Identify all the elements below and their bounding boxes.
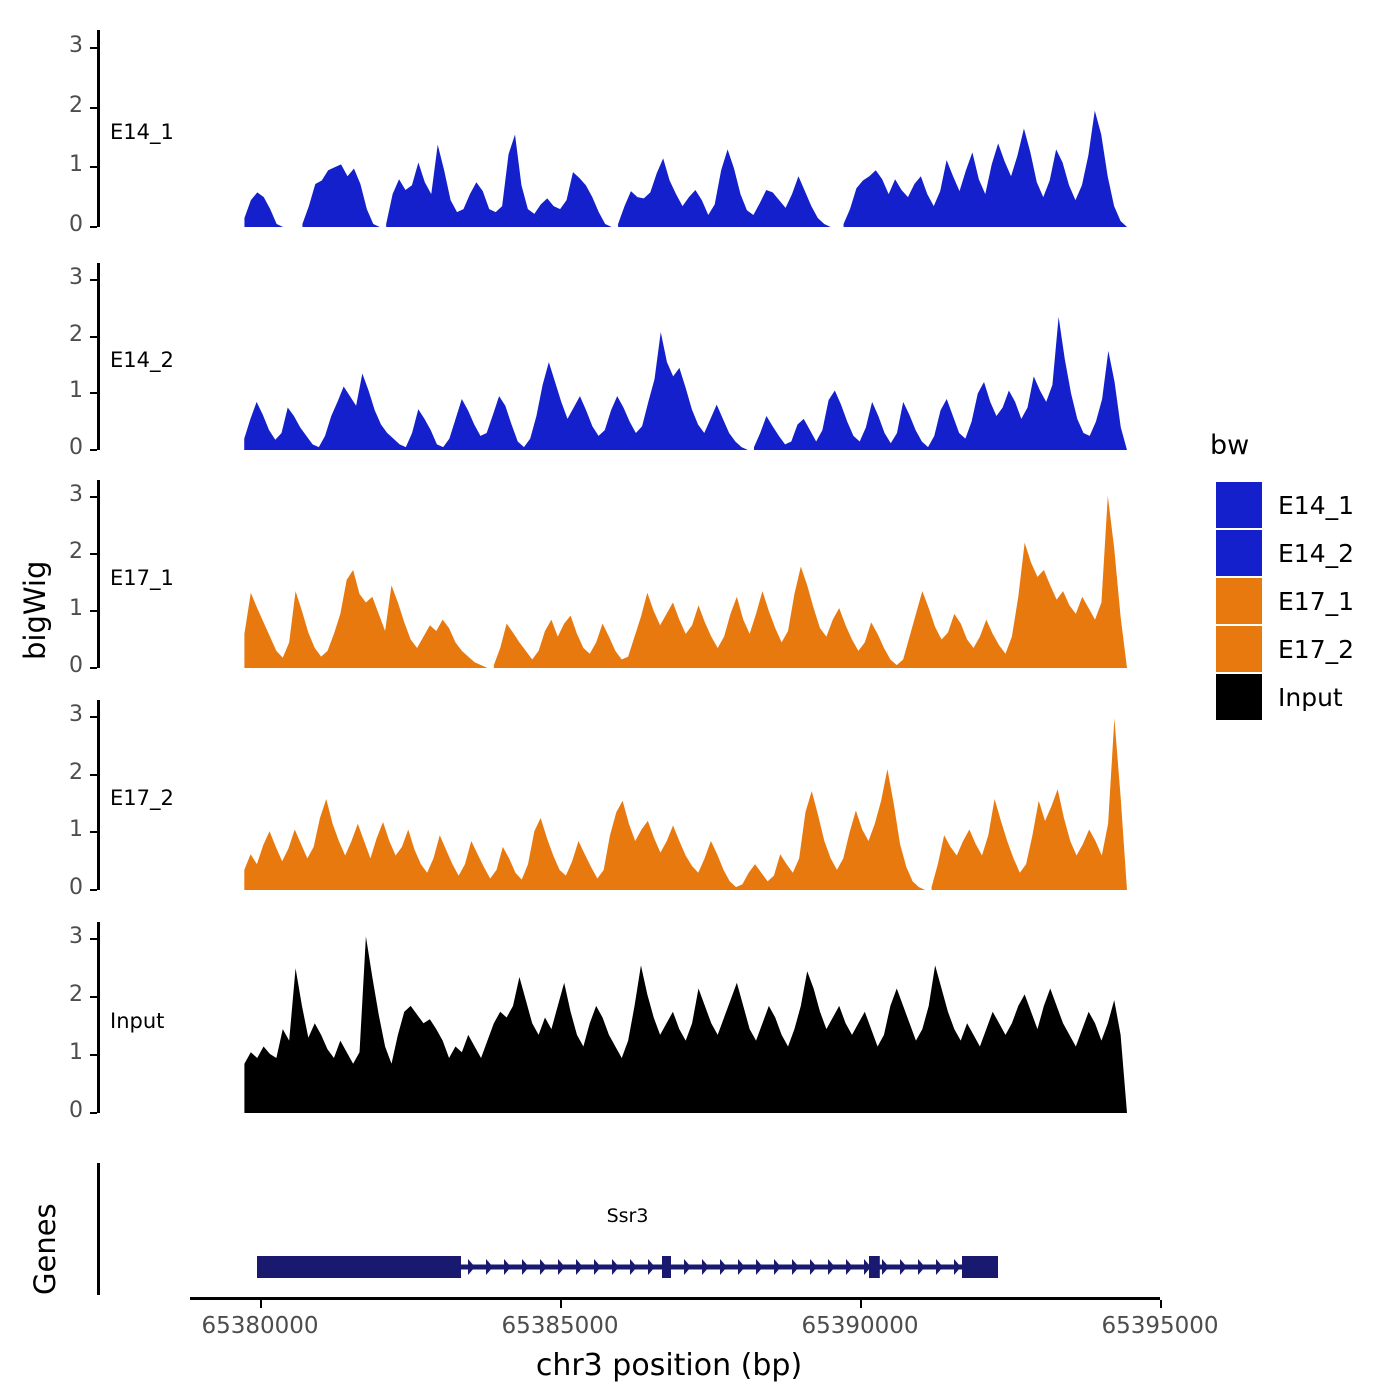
x-tick	[1160, 1300, 1162, 1308]
x-tick-label: 65390000	[750, 1313, 970, 1339]
x-tick	[560, 1300, 562, 1308]
figure-root: bigWig Genes 0123E14_10123E14_20123E17_1…	[0, 0, 1400, 1400]
legend-title: bw	[1210, 430, 1249, 461]
legend-label-e17_1: E17_1	[1278, 587, 1354, 616]
legend: bw E14_1E14_2E17_1E17_2Input	[1210, 430, 1400, 710]
legend-swatch-e14_2[interactable]	[1216, 530, 1262, 576]
legend-label-e14_1: E14_1	[1278, 491, 1354, 520]
legend-swatch-e17_1[interactable]	[1216, 578, 1262, 624]
x-axis-line	[190, 1297, 1160, 1300]
legend-swatch-e17_2[interactable]	[1216, 626, 1262, 672]
legend-swatch-input[interactable]	[1216, 674, 1262, 720]
x-axis: 65380000653850006539000065395000	[0, 0, 1400, 1400]
x-axis-title: chr3 position (bp)	[0, 1348, 1338, 1383]
x-tick-label: 65380000	[150, 1313, 370, 1339]
legend-label-input: Input	[1278, 683, 1343, 712]
legend-swatch-e14_1[interactable]	[1216, 482, 1262, 528]
x-tick-label: 65385000	[450, 1313, 670, 1339]
legend-label-e17_2: E17_2	[1278, 635, 1354, 664]
x-tick-label: 65395000	[1050, 1313, 1270, 1339]
x-tick	[860, 1300, 862, 1308]
legend-label-e14_2: E14_2	[1278, 539, 1354, 568]
x-tick	[260, 1300, 262, 1308]
